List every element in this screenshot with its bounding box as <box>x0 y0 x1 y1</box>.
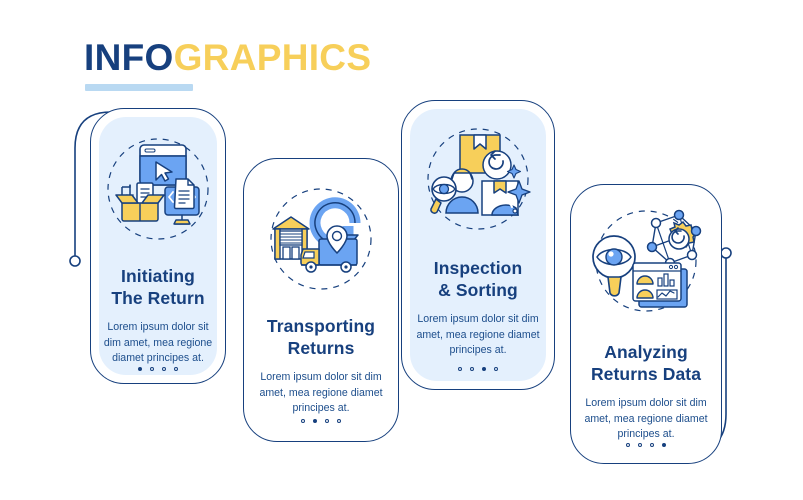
dot-4[interactable] <box>662 443 667 448</box>
return-initiation-icon <box>96 129 220 253</box>
transport-returns-icon <box>259 179 383 303</box>
card-inspection-and-sorting[interactable]: Inspection & Sorting Lorem ipsum dolor s… <box>401 100 555 390</box>
dot-1[interactable] <box>138 367 143 372</box>
card-title-line2: The Return <box>111 287 204 309</box>
dot-4[interactable] <box>174 367 178 371</box>
step-indicator-dots <box>301 419 342 426</box>
card-title: Analyzing Returns Data <box>591 341 701 385</box>
card-analyzing-returns-data[interactable]: Analyzing Returns Data Lorem ipsum dolor… <box>570 184 722 464</box>
card-title: Inspection & Sorting <box>434 257 523 301</box>
page-title: INFOGRAPHICS <box>84 36 504 80</box>
dot-2[interactable] <box>638 443 642 447</box>
card-title-line1: Analyzing <box>591 341 701 363</box>
step-indicator-dots <box>458 367 499 374</box>
card-title: Transporting Returns <box>267 315 375 359</box>
card-title-line1: Initiating <box>111 265 204 287</box>
card-initiating-the-return[interactable]: Initiating The Return Lorem ipsum dolor … <box>90 108 226 384</box>
card-body-text: Lorem ipsum dolor sit dim amet, mea regi… <box>256 370 386 417</box>
card-body-text: Lorem ipsum dolor sit dim amet, mea regi… <box>583 396 709 443</box>
card-body-text: Lorem ipsum dolor sit dim amet, mea regi… <box>103 320 213 367</box>
left-connector-endpoint <box>70 256 80 266</box>
right-connector-endpoint <box>721 248 731 258</box>
card-content: Initiating The Return Lorem ipsum dolor … <box>91 109 225 383</box>
dot-3[interactable] <box>650 443 654 447</box>
dot-2[interactable] <box>470 367 474 371</box>
card-title-line1: Inspection <box>434 257 523 279</box>
dot-1[interactable] <box>301 419 305 423</box>
card-title: Initiating The Return <box>111 265 204 309</box>
inspector-person-icon <box>431 169 478 213</box>
dot-3[interactable] <box>482 367 487 372</box>
analyzing-data-icon <box>584 205 708 329</box>
card-title-line2: Returns <box>267 337 375 359</box>
card-content: Analyzing Returns Data Lorem ipsum dolor… <box>571 185 721 463</box>
page-title-accent: GRAPHICS <box>174 37 372 78</box>
card-title-line2: & Sorting <box>434 279 523 301</box>
step-indicator-dots <box>138 367 179 374</box>
dashboard-chart-icon <box>633 263 687 307</box>
card-title-line2: Returns Data <box>591 363 701 385</box>
card-content: Transporting Returns Lorem ipsum dolor s… <box>244 159 398 441</box>
dot-2[interactable] <box>150 367 154 371</box>
dot-3[interactable] <box>325 419 329 423</box>
title-underline-bar <box>85 84 193 91</box>
card-body-text: Lorem ipsum dolor sit dim amet, mea regi… <box>414 312 542 359</box>
page-title-primary: INFO <box>84 37 174 78</box>
card-content: Inspection & Sorting Lorem ipsum dolor s… <box>402 101 554 389</box>
dot-3[interactable] <box>162 367 166 371</box>
dot-4[interactable] <box>337 419 341 423</box>
card-title-line1: Transporting <box>267 315 375 337</box>
magnifier-eye-icon <box>593 236 635 296</box>
step-indicator-dots <box>626 443 667 450</box>
dot-1[interactable] <box>626 443 630 447</box>
open-box-icon <box>116 183 164 221</box>
dot-2[interactable] <box>313 419 318 424</box>
page-header: INFOGRAPHICS <box>84 36 504 96</box>
inspection-sorting-icon <box>416 121 540 245</box>
dot-4[interactable] <box>494 367 498 371</box>
dot-1[interactable] <box>458 367 462 371</box>
card-transporting-returns[interactable]: Transporting Returns Lorem ipsum dolor s… <box>243 158 399 442</box>
